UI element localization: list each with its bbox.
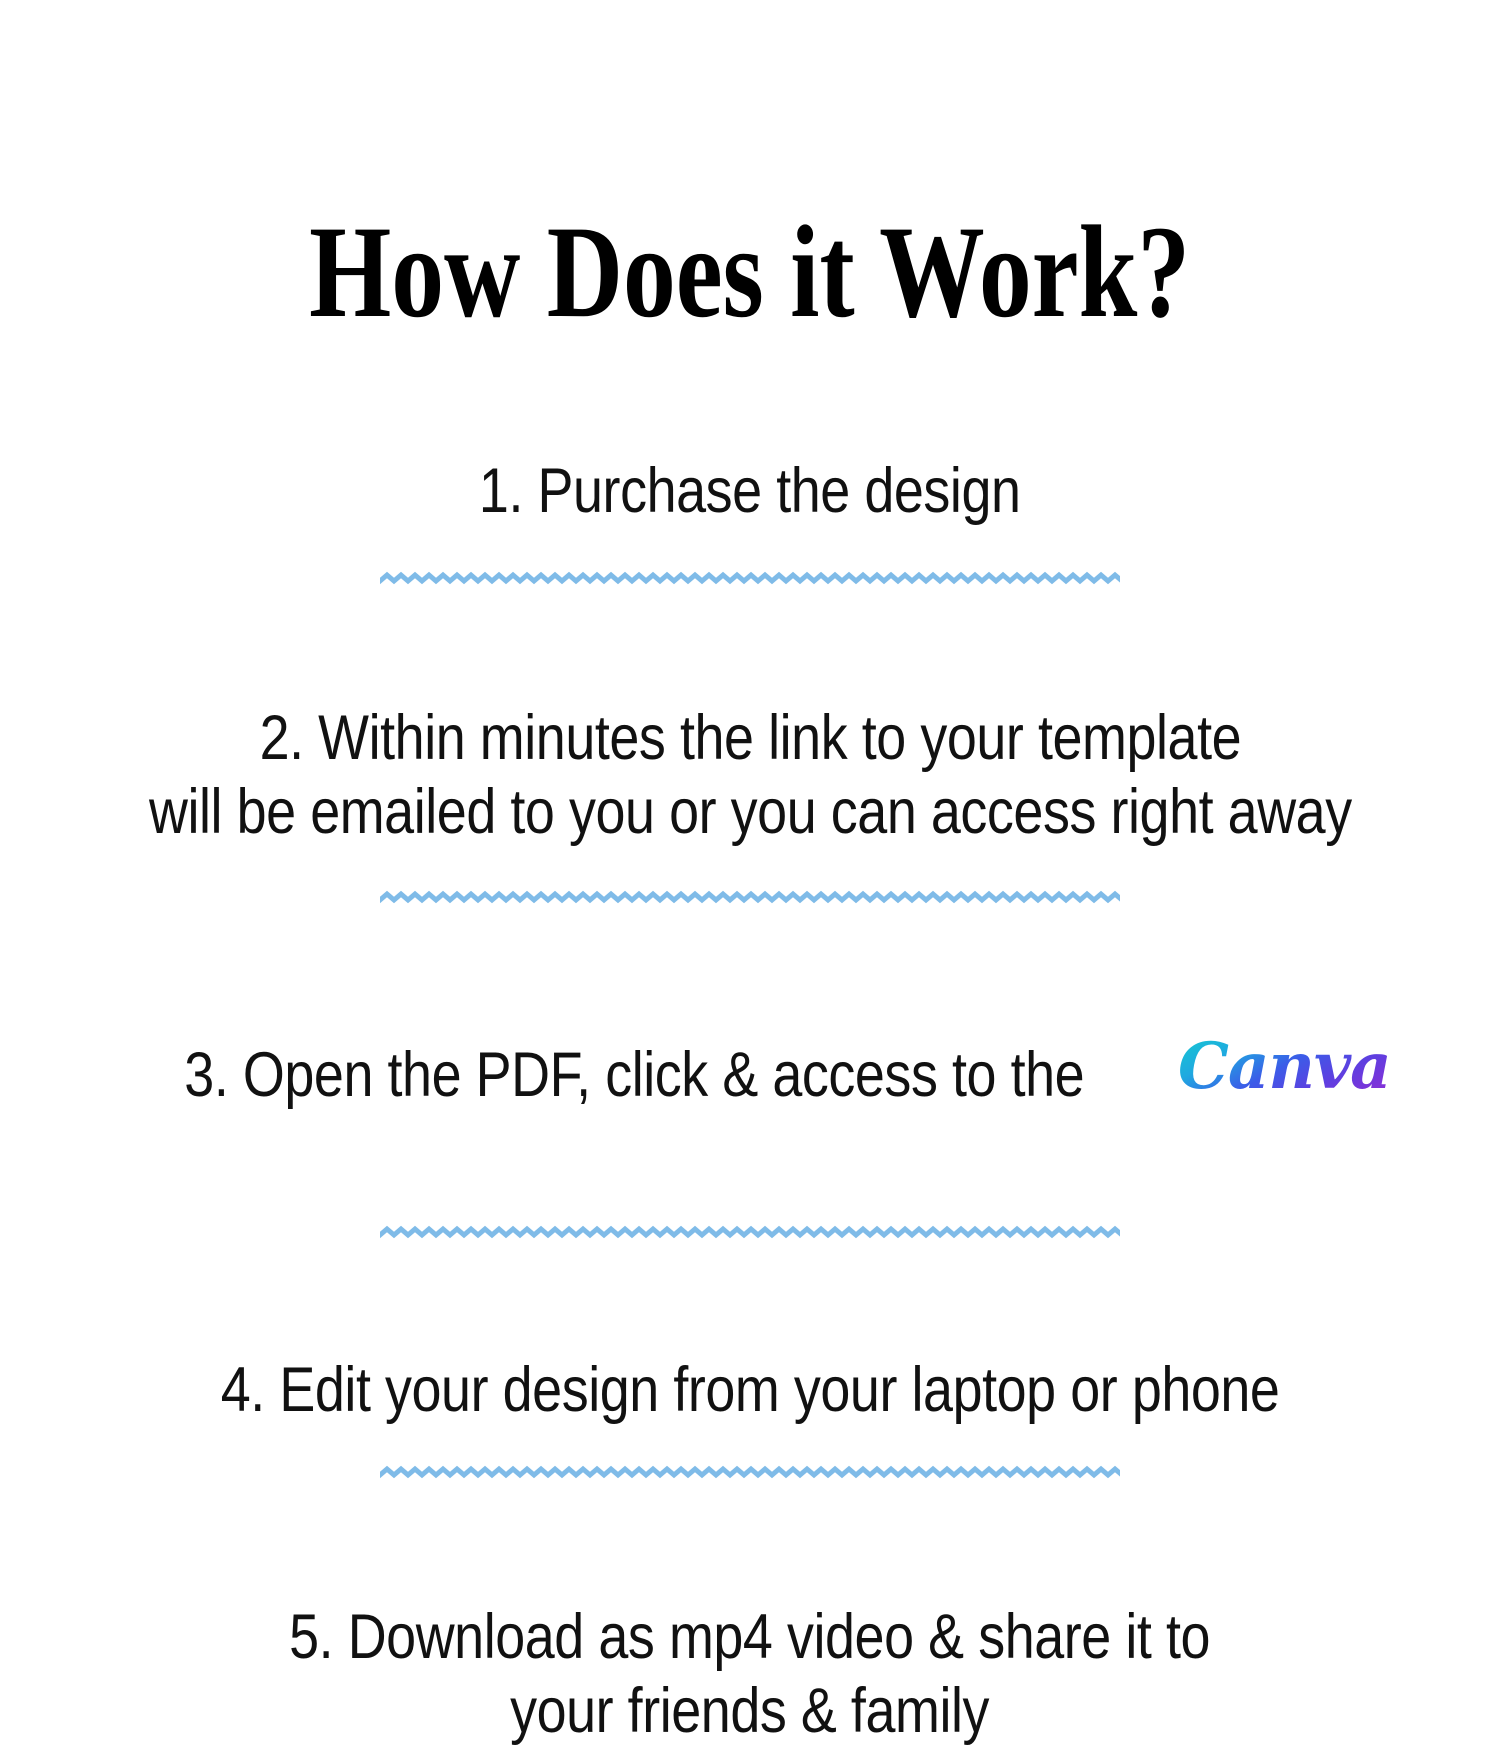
step-item-4: 4. Edit your design from your laptop or … — [40, 1279, 1460, 1428]
step-5-text: 5. Download as mp4 video & share it toyo… — [290, 1600, 1211, 1748]
wavy-line-divider — [380, 571, 1120, 587]
wavy-line-divider — [380, 890, 1120, 906]
wavy-line-divider — [380, 1465, 1120, 1481]
poster-canvas: How Does it Work? 1. Purchase the design… — [0, 0, 1500, 1500]
step-5-line-1: 5. Download as mp4 video & share it to — [290, 1602, 1211, 1672]
page-title-container: How Does it Work? — [0, 118, 1500, 258]
canva-wordmark-logo: Canva — [1174, 1030, 1392, 1106]
step-2-line-1: 2. Within minutes the link to your templ… — [259, 703, 1241, 773]
step-item-1: 1. Purchase the design — [40, 380, 1460, 529]
step-1-text: 1. Purchase the design — [479, 454, 1021, 528]
step-3-row: 3. Open the PDF, click & access to the — [40, 1020, 1460, 1112]
step-item-5: 5. Download as mp4 video & share it toyo… — [40, 1525, 1460, 1748]
step-4-text: 4. Edit your design from your laptop or … — [221, 1353, 1280, 1427]
step-item-3: 3. Open the PDF, click & access to the — [40, 946, 1460, 1187]
page-title: How Does it Work? — [310, 206, 1191, 338]
step-2-line-2: will be emailed to you or you can access… — [149, 777, 1352, 847]
steps-list: 1. Purchase the design 2. Within minutes… — [0, 380, 1500, 1748]
wavy-line-divider — [380, 1225, 1120, 1241]
step-2-text: 2. Within minutes the link to your templ… — [149, 701, 1352, 850]
step-3-text: 3. Open the PDF, click & access to the — [184, 1038, 1084, 1112]
svg-text:Canva: Canva — [1178, 1030, 1391, 1104]
step-item-2: 2. Within minutes the link to your templ… — [40, 627, 1460, 850]
step-5-line-2: your friends & family — [511, 1676, 990, 1746]
